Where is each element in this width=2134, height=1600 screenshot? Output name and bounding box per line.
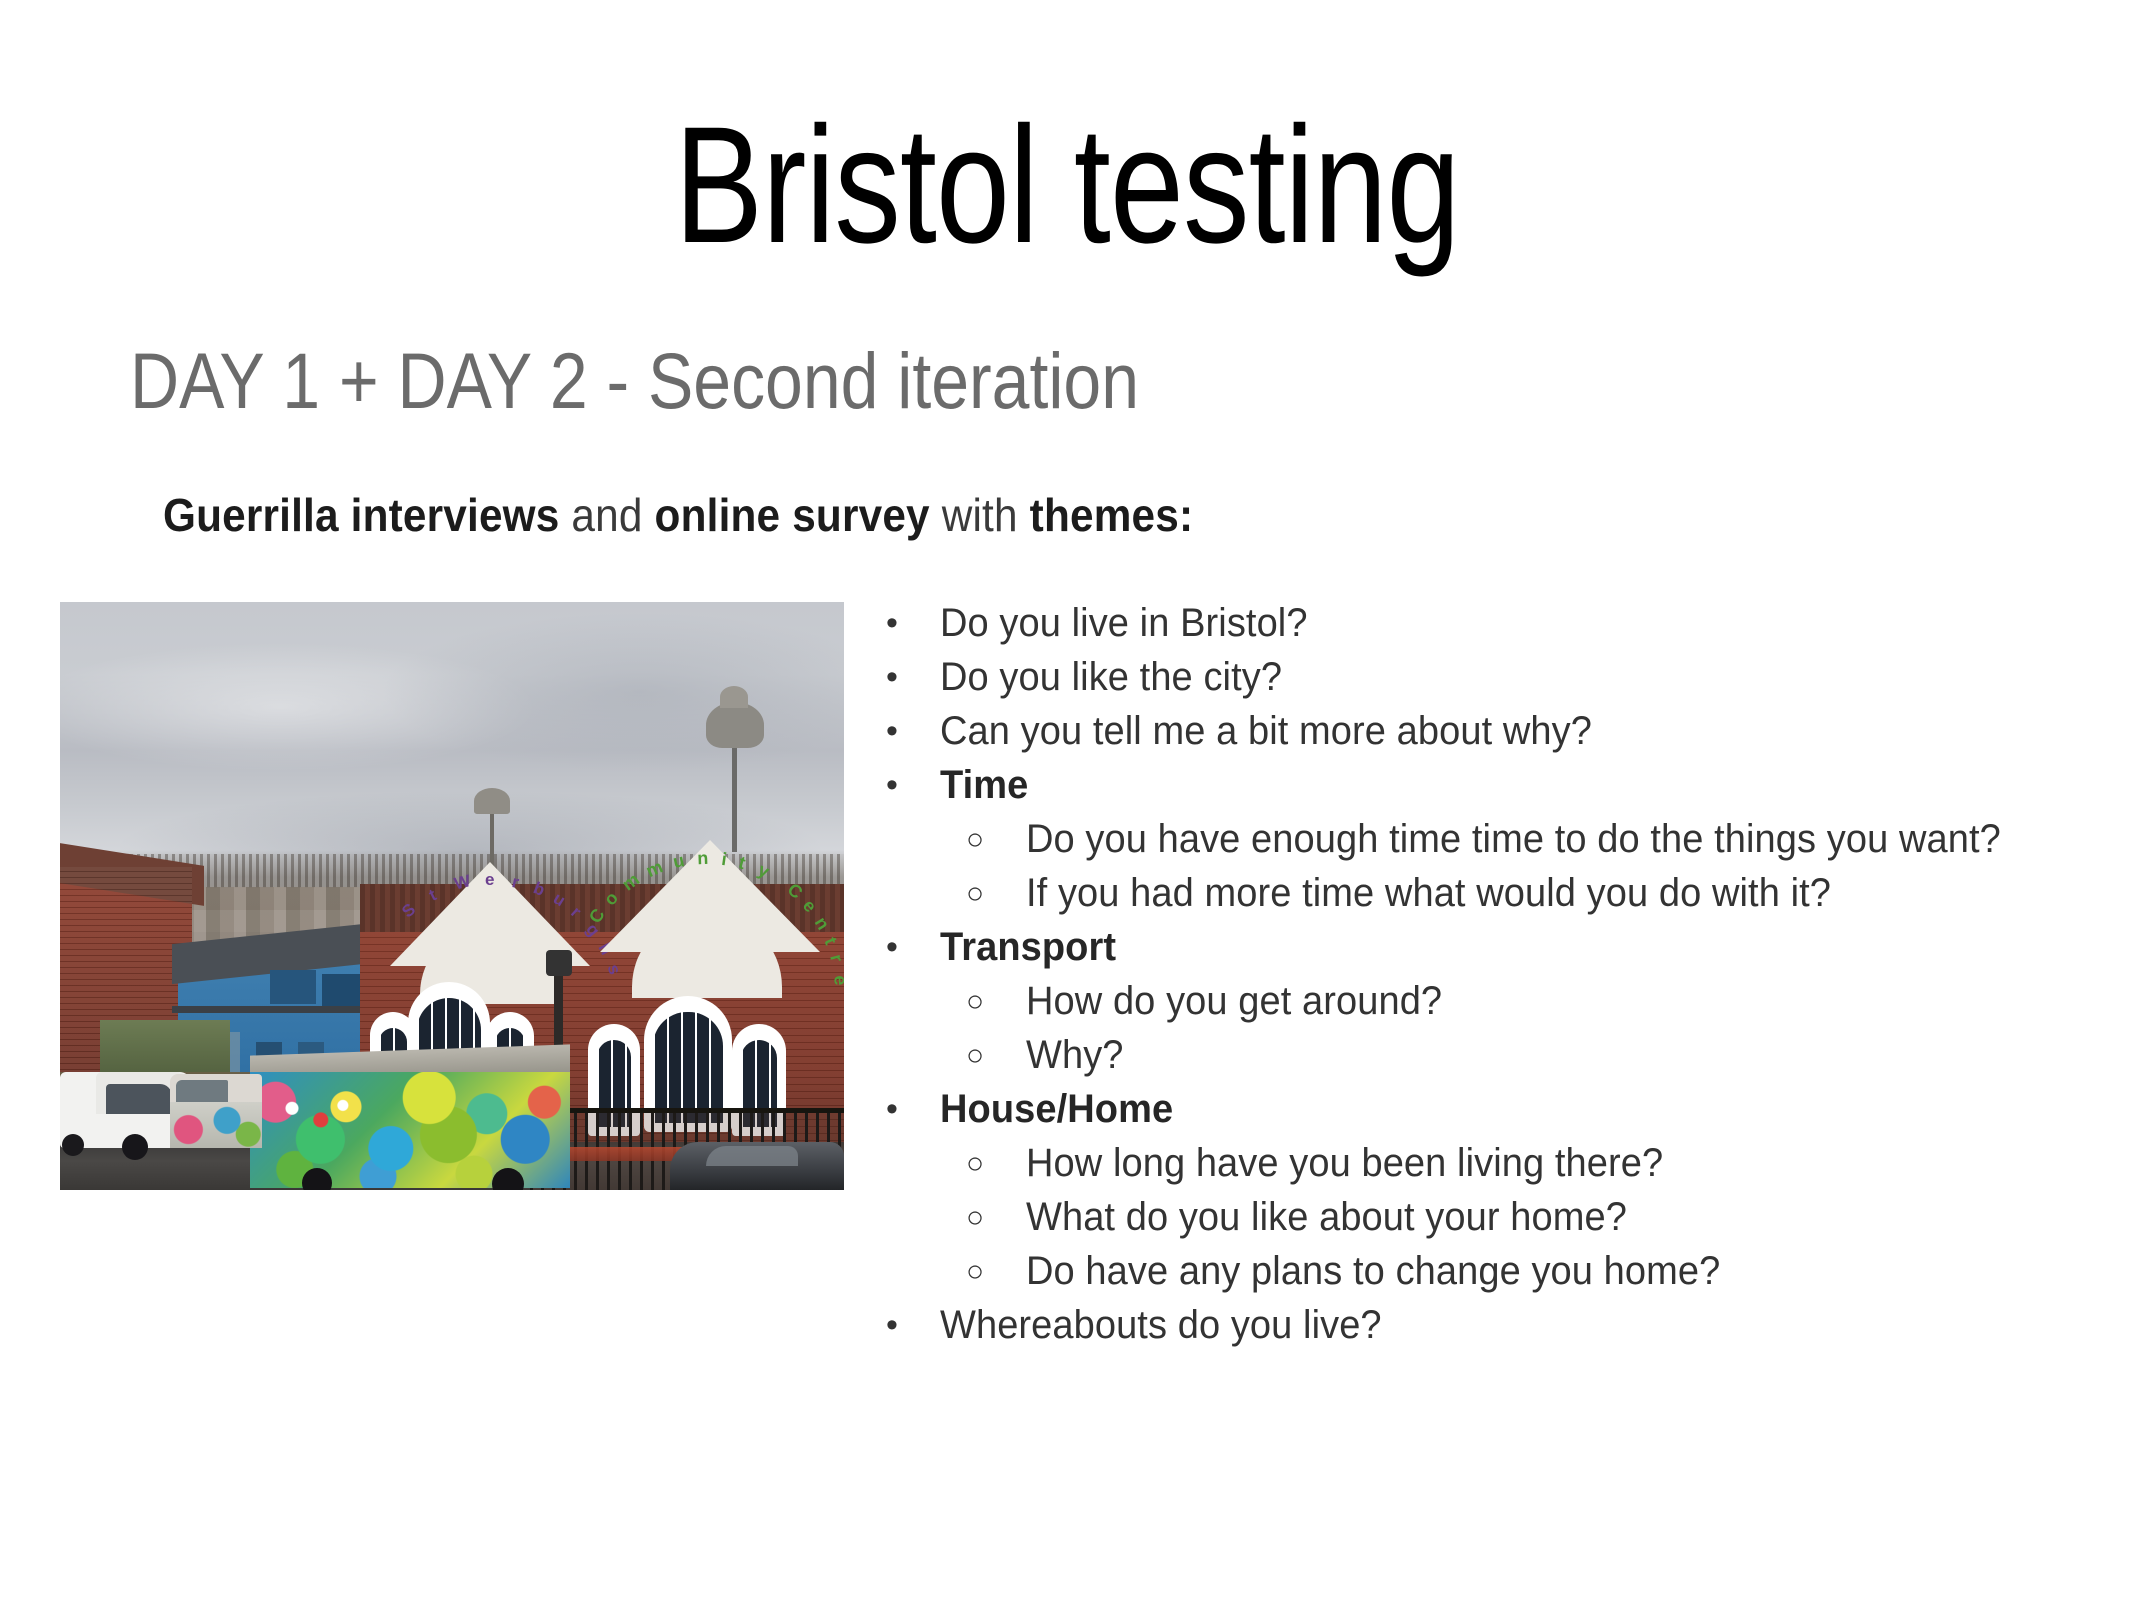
list-item-label: If you had more time what would you do w…	[1026, 866, 1831, 920]
sub-bullet-icon: ○	[966, 1190, 1006, 1246]
intro-part-with: with	[942, 489, 1018, 541]
bell-turret-cap	[720, 686, 748, 708]
blue-building-window	[270, 970, 316, 1004]
sub-list-item: ○How do you get around?	[886, 974, 2096, 1028]
list-item-label: Can you tell me a bit more about why?	[940, 704, 1592, 758]
bullet-icon: •	[886, 920, 926, 974]
sign-st-werburghs: S t W e r b u r g h s	[412, 892, 568, 988]
sub-list-item: ○Why?	[886, 1028, 2096, 1082]
bullet-icon: •	[886, 758, 926, 812]
list-item-label: Whereabouts do you live?	[940, 1298, 1382, 1352]
intro-part-themes: themes:	[1030, 489, 1194, 541]
page-subtitle: DAY 1 + DAY 2 - Second iteration	[130, 338, 1139, 425]
bullet-icon: •	[886, 704, 926, 758]
cloud	[380, 612, 844, 772]
list-item: •Do you live in Bristol?	[886, 596, 2096, 650]
list-item: •Do you like the city?	[886, 650, 2096, 704]
graffiti-mushrooms	[268, 1088, 364, 1146]
list-item: •Transport	[886, 920, 2096, 974]
bullet-icon: •	[886, 596, 926, 650]
bullet-icon: •	[886, 1298, 926, 1352]
railing-rail	[530, 1108, 844, 1113]
list-item-label: Time	[940, 758, 1028, 812]
white-van-wheel	[122, 1134, 148, 1160]
intro-part-online-survey: online survey	[655, 489, 930, 541]
sub-list-item: ○Do you have enough time time to do the …	[886, 812, 2096, 866]
bell-turret-top	[706, 702, 764, 748]
graffiti-truck-cab-artwork	[170, 1102, 262, 1148]
sub-list-item: ○Do have any plans to change you home?	[886, 1244, 2096, 1298]
sign-community-centre: C o m m u n i t y C e n t r e	[622, 870, 792, 974]
list-item-label: How do you get around?	[1026, 974, 1442, 1028]
intro-part-guerrilla-interviews: Guerrilla interviews	[163, 489, 559, 541]
list-item-label: Do have any plans to change you home?	[1026, 1244, 1720, 1298]
parked-car-windscreen	[706, 1146, 798, 1166]
roof-vent-top	[474, 788, 510, 814]
list-item: •Can you tell me a bit more about why?	[886, 704, 2096, 758]
list-item-label: Do you like the city?	[940, 650, 1282, 704]
sub-bullet-icon: ○	[966, 974, 1006, 1030]
drainpipe-head	[546, 950, 572, 976]
list-item-label: What do you like about your home?	[1026, 1190, 1627, 1244]
sub-bullet-icon: ○	[966, 866, 1006, 922]
list-item-label: How long have you been living there?	[1026, 1136, 1663, 1190]
graffiti-truck-wheel	[302, 1168, 332, 1190]
community-centre-photo: S t W e r b u r g h s C o m m u n i t y …	[60, 602, 844, 1190]
white-van-windscreen	[106, 1084, 172, 1114]
page-title: Bristol testing	[213, 96, 1920, 275]
list-item: •Time	[886, 758, 2096, 812]
list-item: •House/Home	[886, 1082, 2096, 1136]
list-item-label: Why?	[1026, 1028, 1124, 1082]
sub-bullet-icon: ○	[966, 812, 1006, 868]
list-item: •Whereabouts do you live?	[886, 1298, 2096, 1352]
sub-list-item: ○How long have you been living there?	[886, 1136, 2096, 1190]
interview-themes-list: •Do you live in Bristol?•Do you like the…	[886, 596, 2096, 1352]
intro-line: Guerrilla interviews and online survey w…	[163, 488, 1193, 543]
sub-bullet-icon: ○	[966, 1028, 1006, 1084]
intro-part-and: and	[571, 489, 642, 541]
list-item-label: House/Home	[940, 1082, 1173, 1136]
sub-bullet-icon: ○	[966, 1244, 1006, 1300]
sub-bullet-icon: ○	[966, 1136, 1006, 1192]
list-item-label: Transport	[940, 920, 1116, 974]
list-item-label: Do you live in Bristol?	[940, 596, 1308, 650]
sub-list-item: ○If you had more time what would you do …	[886, 866, 2096, 920]
white-van-wheel	[62, 1134, 84, 1156]
blue-building-window	[322, 974, 362, 1006]
list-item-label: Do you have enough time time to do the t…	[1026, 812, 2001, 866]
bullet-icon: •	[886, 1082, 926, 1136]
bullet-icon: •	[886, 650, 926, 704]
sub-list-item: ○What do you like about your home?	[886, 1190, 2096, 1244]
